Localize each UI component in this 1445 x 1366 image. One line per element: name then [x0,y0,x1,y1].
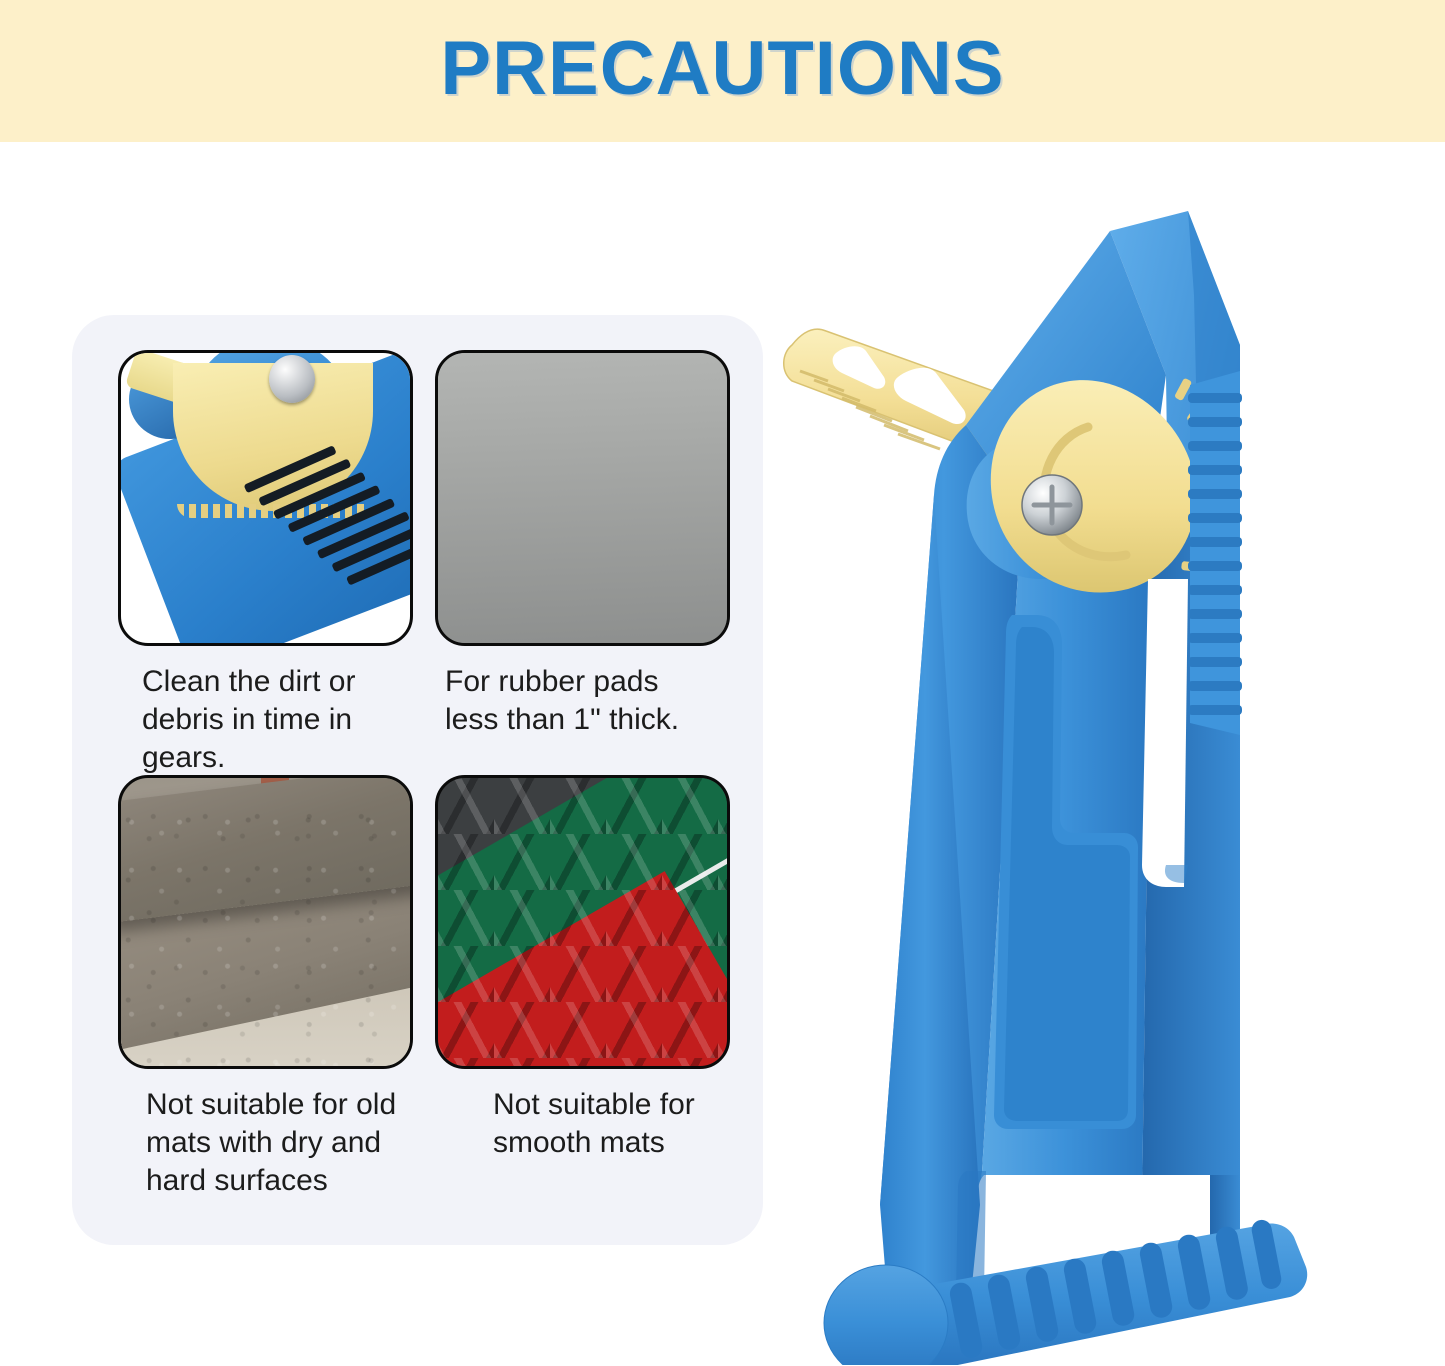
precaution-item-smooth-mats: Not suitable for smooth mats [435,775,730,1162]
precautions-card: Clean the dirt or debris in time in gear… [72,315,763,1245]
mat-lifter-illustration [770,175,1390,1365]
precaution-item-clean-gears: Clean the dirt or debris in time in gear… [118,350,413,777]
concrete-texture [121,778,410,1066]
gear-closeup-photo [118,350,413,646]
pivot-screw-icon [1022,475,1082,535]
precaution-caption: Not suitable for old mats with dry and h… [118,1086,414,1200]
product-image [770,175,1390,1365]
inner-slot [1142,579,1188,887]
blue-rack-teeth [1188,371,1242,735]
page-title: PRECAUTIONS [440,31,1004,107]
rolled-rubber-sheet-photo [435,350,730,646]
diamond-plate-mats-photo [435,775,730,1069]
diamond-tread-texture [438,778,727,1066]
precaution-item-rubber-pad-thickness: For rubber pads less than 1" thick. [435,350,730,739]
rubber-sheet-shape [435,350,730,646]
precaution-item-old-dry-mats: Not suitable for old mats with dry and h… [118,775,413,1200]
header-banner: PRECAUTIONS [0,0,1445,142]
precaution-caption: For rubber pads less than 1" thick. [435,663,713,739]
precaution-caption: Clean the dirt or debris in time in gear… [118,663,410,777]
screw-icon [269,355,315,403]
precaution-caption: Not suitable for smooth mats [435,1086,761,1162]
old-mat-on-concrete-photo [118,775,413,1069]
precautions-grid: Clean the dirt or debris in time in gear… [118,350,730,1210]
